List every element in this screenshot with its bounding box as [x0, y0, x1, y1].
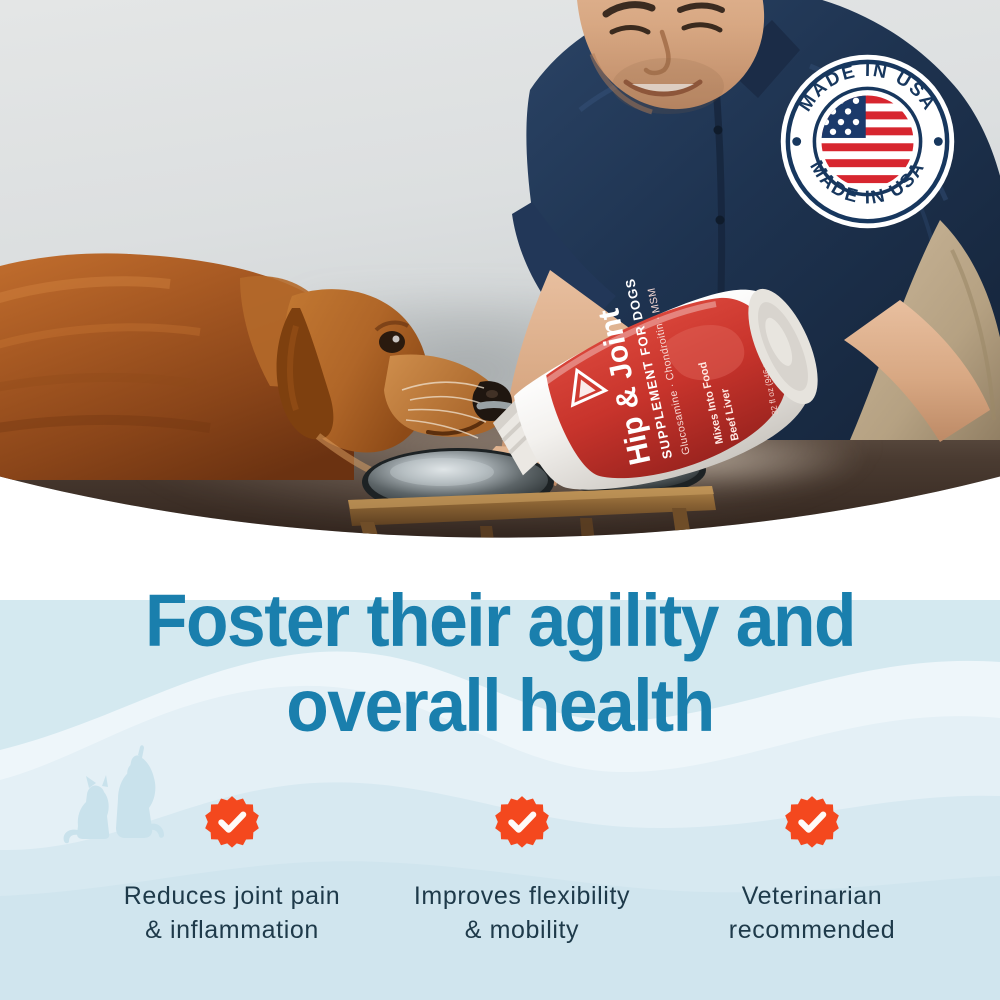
- headline-line-2: overall health: [30, 663, 970, 748]
- check-badge-icon: [784, 795, 840, 851]
- benefits-row: Reduces joint pain & inflammation Improv…: [0, 795, 1000, 947]
- benefit-item-3: Veterinarian recommended: [677, 795, 947, 947]
- benefit-item-2: Improves flexibility & mobility: [382, 795, 662, 947]
- headline-line-1: Foster their agility and: [30, 578, 970, 663]
- made-in-usa-badge: MADE IN USA MADE IN USA: [779, 53, 956, 230]
- product-banner: Hip & Joint SUPPLEMENT FOR DOGS Glucosam…: [0, 0, 1000, 1000]
- check-badge-icon: [494, 795, 550, 851]
- page-headline: Foster their agility and overall health: [30, 578, 970, 748]
- check-badge-icon: [204, 795, 260, 851]
- benefit-item-1: Reduces joint pain & inflammation: [72, 795, 392, 947]
- benefit-label-2: Improves flexibility & mobility: [414, 879, 630, 947]
- benefit-label-3: Veterinarian recommended: [729, 879, 895, 947]
- benefit-label-1: Reduces joint pain & inflammation: [124, 879, 341, 947]
